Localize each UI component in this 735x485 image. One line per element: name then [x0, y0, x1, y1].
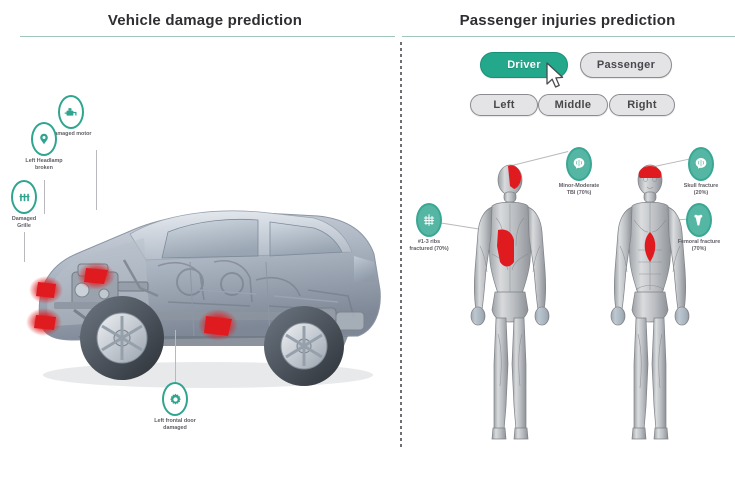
seat-button-left[interactable]: Left: [470, 94, 538, 116]
page-title-passenger-injuries: Passenger injuries prediction: [435, 12, 700, 29]
brain-icon: [688, 147, 714, 181]
damage-marker-damaged-grille[interactable]: Damaged Grille: [11, 180, 37, 214]
headlamp-icon: [31, 122, 57, 156]
leader-line-grille: [24, 232, 25, 262]
bone-icon: [686, 203, 712, 237]
vehicle-damage-illustration: [18, 170, 388, 400]
injury-marker-femoral-fracture[interactable]: Femoral fracture (70%): [686, 203, 712, 237]
anatomy-front-svg: [602, 158, 698, 443]
leader-line-motor: [96, 150, 97, 210]
grille-icon: [11, 180, 37, 214]
damage-marker-label: Left Headlamp broken: [0, 158, 90, 172]
injury-marker-label: Skull fracture (20%): [655, 183, 735, 197]
engine-icon: [58, 95, 84, 129]
anatomy-back-svg: [462, 158, 558, 443]
ribcage-icon: [416, 203, 442, 237]
damage-marker-label: Left frontal door damaged: [129, 418, 221, 432]
injury-marker-tbi[interactable]: Minor-Moderate TBI (70%): [566, 147, 592, 181]
leader-line-door: [175, 330, 176, 382]
occupant-button-passenger[interactable]: Passenger: [580, 52, 672, 78]
car-cutaway-svg: [18, 170, 388, 400]
prediction-dashboard: Vehicle damage prediction: [0, 0, 735, 485]
page-bottom-whitespace: [0, 451, 735, 485]
injury-marker-rib-fracture[interactable]: #1-3 ribs fractured (70%): [416, 203, 442, 237]
damage-marker-left-front-door[interactable]: Left frontal door damaged: [162, 382, 188, 416]
body-figure-posterior: [462, 158, 558, 443]
page-title-vehicle-damage: Vehicle damage prediction: [60, 12, 350, 29]
gear-icon: [162, 382, 188, 416]
damage-marker-left-headlamp[interactable]: Left Headlamp broken: [31, 122, 57, 156]
body-figure-anterior: [602, 158, 698, 443]
damage-marker-label: Damaged Grille: [0, 216, 70, 230]
occupant-button-driver[interactable]: Driver: [480, 52, 568, 78]
injury-marker-label: Femoral fracture (70%): [653, 239, 735, 253]
title-divider-left: [20, 36, 395, 37]
injury-marker-label: Minor-Moderate TBI (70%): [533, 183, 625, 197]
seat-button-middle[interactable]: Middle: [538, 94, 608, 116]
title-divider-right: [402, 36, 735, 37]
brain-icon: [566, 147, 592, 181]
leader-line-headlamp: [44, 180, 45, 214]
injury-marker-label: #1-3 ribs fractured (70%): [383, 239, 475, 253]
damage-marker-damaged-motor[interactable]: Damaged motor: [58, 95, 84, 129]
seat-button-right[interactable]: Right: [609, 94, 675, 116]
injury-marker-skull-fracture[interactable]: Skull fracture (20%): [688, 147, 714, 181]
